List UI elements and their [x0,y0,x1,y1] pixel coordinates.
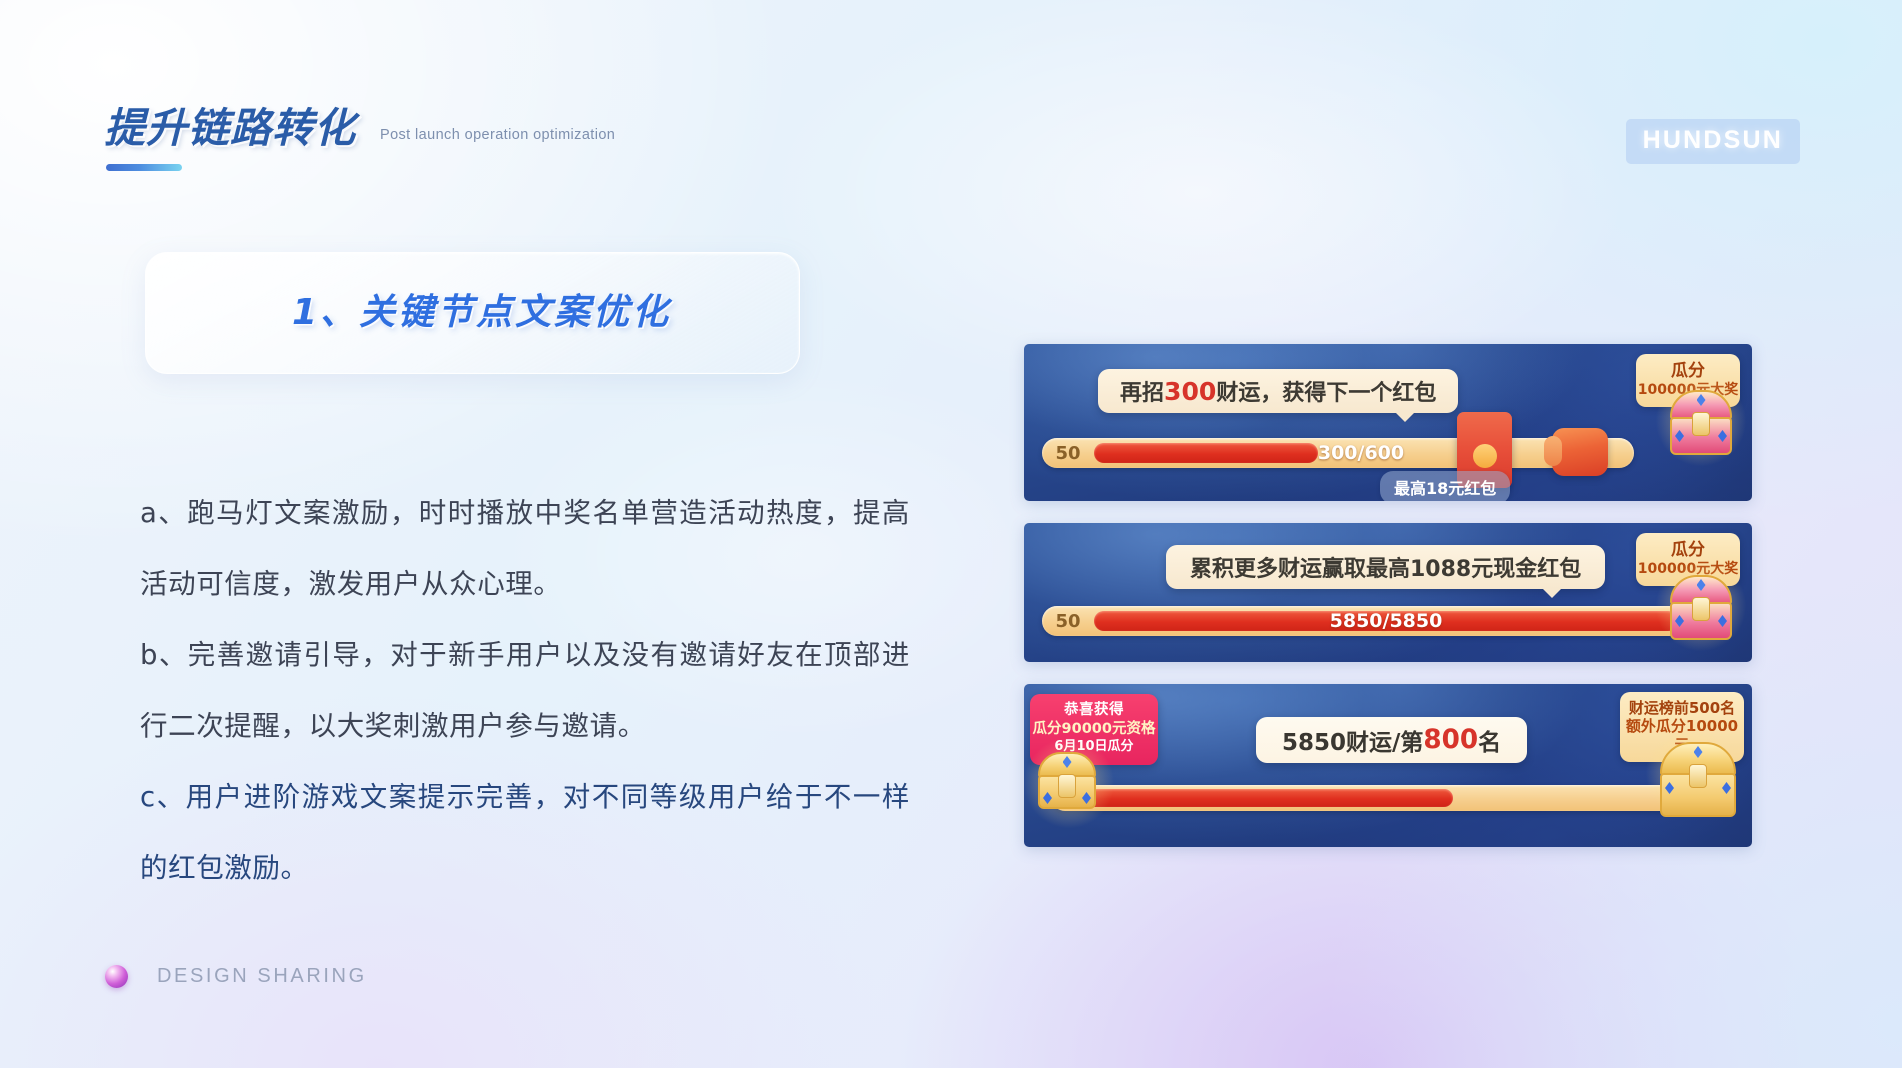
card2-level-label: 50 [1042,611,1094,632]
footer-label: DESIGN SHARING [157,965,367,988]
screenshot-cards: 再招300财运，获得下一个红包 瓜分 100000元大奖 50 300/600 … [1024,344,1752,847]
paragraph-a: a、跑马灯文案激励，时时播放中奖名单营造活动热度，提高活动可信度，激发用户从众心… [140,478,910,620]
sphere-icon [105,965,128,988]
card2-badge-line1: 瓜分 [1636,540,1740,561]
title-accent-bar [106,164,182,171]
chest-lock [1058,774,1076,798]
chest-lock [1692,597,1710,621]
card1-tooltip: 再招300财运，获得下一个红包 [1098,369,1458,413]
card3-progress-fill [1072,789,1453,807]
card-progress-stage-3: 恭喜获得 瓜分90000元资格 6月10日瓜分 财运榜前500名 额外瓜分100… [1024,684,1752,847]
card1-level-label: 50 [1042,443,1094,464]
card2-progress-label: 5850/5850 [1094,611,1678,631]
card-progress-stage-1: 再招300财运，获得下一个红包 瓜分 100000元大奖 50 300/600 … [1024,344,1752,501]
card2-tooltip: 累积更多财运赢取最高1088元现金红包 [1166,545,1605,589]
body-copy: a、跑马灯文案激励，时时播放中奖名单营造活动热度，提高活动可信度，激发用户从众心… [140,478,910,904]
card-progress-stage-2: 累积更多财运赢取最高1088元现金红包 瓜分 100000元大奖 50 5850… [1024,523,1752,662]
page-subtitle: Post launch operation optimization [380,127,615,149]
section-title: 1、关键节点文案优化 [274,295,671,331]
card3-pink-line2: 瓜分90000元资格 [1030,720,1158,739]
card3-center-suffix: 名 [1478,723,1501,757]
page-header: 提升链路转化 Post launch operation optimizatio… [104,108,615,149]
chest-lock [1689,764,1707,788]
card1-tooltip-highlight: 300 [1164,377,1216,406]
card3-center-highlight: 800 [1423,725,1478,755]
paragraph-c: c、用户进阶游戏文案提示完善，对不同等级用户给于不一样的红包激励。 [140,762,910,904]
chest-lock [1692,412,1710,436]
card2-progress-track: 5850/5850 [1094,611,1678,631]
card1-tooltip-suffix: 财运，获得下一个红包 [1216,375,1436,407]
card1-treasure-chest-icon [1668,384,1734,458]
card1-reward-pill: 最高18元红包 [1380,471,1510,501]
fist-icon [1552,428,1608,476]
card3-center-prefix: 5850财运/第 [1282,723,1423,757]
card2-tooltip-tail [1541,587,1563,598]
card2-treasure-chest-icon [1668,569,1734,643]
card3-rank-display: 5850财运/第800名 [1256,717,1527,763]
card1-tooltip-prefix: 再招 [1120,375,1164,407]
page-title: 提升链路转化 [104,108,356,149]
card1-tooltip-tail [1394,411,1416,422]
hundsun-logo: HUNDSUN [1626,119,1800,164]
section-title-plate: 1、关键节点文案优化 [145,252,800,374]
card3-goal-chest-icon [1658,736,1738,822]
card3-badge-line1: 财运榜前500名 [1620,699,1744,717]
card2-progress-bar[interactable]: 50 5850/5850 [1042,606,1684,636]
card3-start-chest-icon [1036,746,1098,812]
card3-progress-bar[interactable] [1052,785,1706,811]
card3-pink-line1: 恭喜获得 [1030,701,1158,720]
paragraph-b: b、完善邀请引导，对于新手用户以及没有邀请好友在顶部进行二次提醒，以大奖刺激用户… [140,620,910,762]
card3-progress-track [1072,789,1686,807]
footer: DESIGN SHARING [105,965,367,988]
